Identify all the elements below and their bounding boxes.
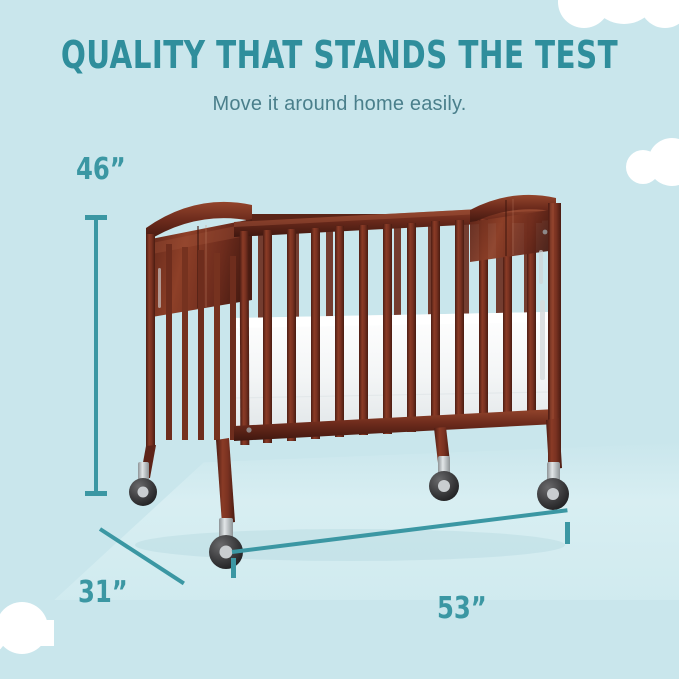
depth-dimension-label: 31” [78, 578, 128, 608]
width-measure-cap-right [565, 522, 570, 544]
crib-headboard-right [470, 195, 556, 262]
caster-wheel [209, 518, 243, 569]
height-dimension-label: 46” [76, 155, 126, 185]
caster-wheel [129, 462, 157, 506]
caster-wheel [429, 456, 459, 501]
height-measure-cap-top [85, 215, 107, 220]
height-measure-line [94, 216, 98, 496]
width-measure-cap-left [231, 558, 236, 578]
infographic-canvas: QUALITY THAT STANDS THE TEST Move it aro… [0, 0, 679, 679]
width-dimension-label: 53” [437, 594, 487, 624]
caster-wheel [537, 462, 569, 510]
height-measure-cap-bottom [85, 491, 107, 496]
crib-shadow [135, 529, 565, 561]
